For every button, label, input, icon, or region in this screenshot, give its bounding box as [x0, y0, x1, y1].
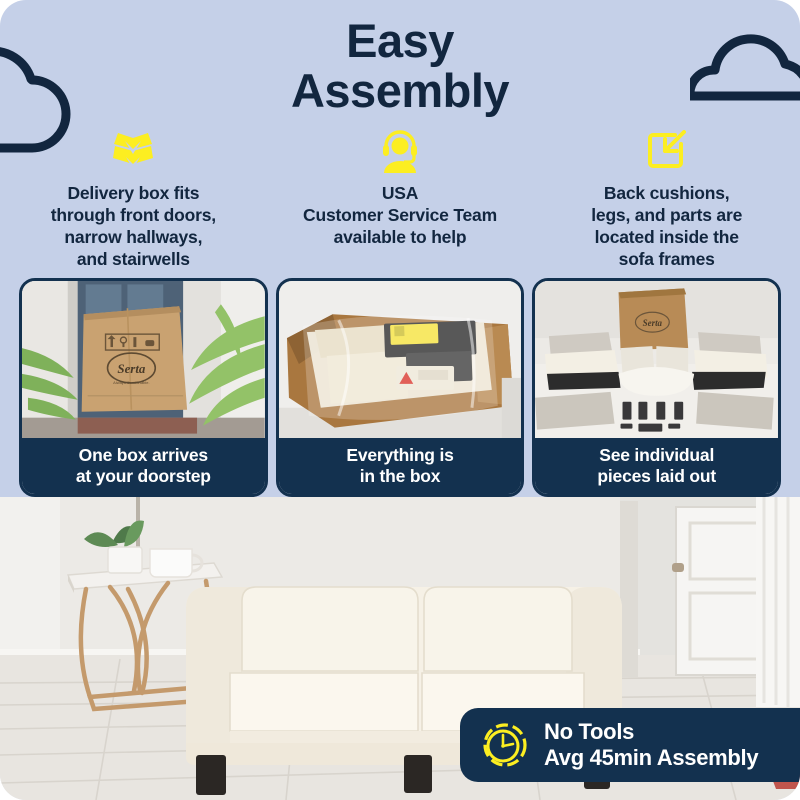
photo-card-caption: Everything is in the box [279, 438, 522, 494]
cardboard-box-on-doorstep-photo: Serta Always Comfortable. [22, 281, 265, 438]
arrow-into-box-icon [645, 128, 689, 174]
photo-card-pieces-laid-out: Serta [532, 278, 781, 497]
photo-card-one-box: Serta Always Comfortable. [19, 278, 268, 497]
page-title: Easy Assembly [0, 16, 800, 116]
photo-card-caption: See individual pieces laid out [535, 438, 778, 494]
badge-label: No Tools Avg 45min Assembly [544, 719, 758, 770]
feature-item-label: Delivery box fits through front doors, n… [51, 182, 216, 270]
feature-item-label: USA Customer Service Team available to h… [303, 182, 497, 248]
clock-icon [482, 722, 528, 768]
no-tools-badge: No Tools Avg 45min Assembly [460, 708, 800, 782]
feature-item-label: Back cushions, legs, and parts are locat… [591, 182, 742, 270]
svg-text:Serta: Serta [643, 318, 663, 328]
open-box-with-wrapped-contents-photo [279, 281, 522, 438]
feature-item-customer-service: USA Customer Service Team available to h… [267, 128, 534, 270]
headset-support-agent-icon [379, 128, 421, 174]
open-box-icon [110, 128, 156, 174]
feature-row: Delivery box fits through front doors, n… [0, 128, 800, 270]
feature-item-delivery-box: Delivery box fits through front doors, n… [0, 128, 267, 270]
svg-text:Serta: Serta [117, 361, 146, 376]
photo-card-everything-in-box: Everything is in the box [276, 278, 525, 497]
infographic-canvas: Easy Assembly Delivery box fits through … [0, 0, 800, 800]
feature-item-parts-inside: Back cushions, legs, and parts are locat… [533, 128, 800, 270]
photo-card-row: Serta Always Comfortable. [19, 278, 781, 497]
svg-text:Always Comfortable.: Always Comfortable. [113, 380, 149, 385]
photo-card-caption: One box arrives at your doorstep [22, 438, 265, 494]
sofa-pieces-laid-out-photo: Serta [535, 281, 778, 438]
